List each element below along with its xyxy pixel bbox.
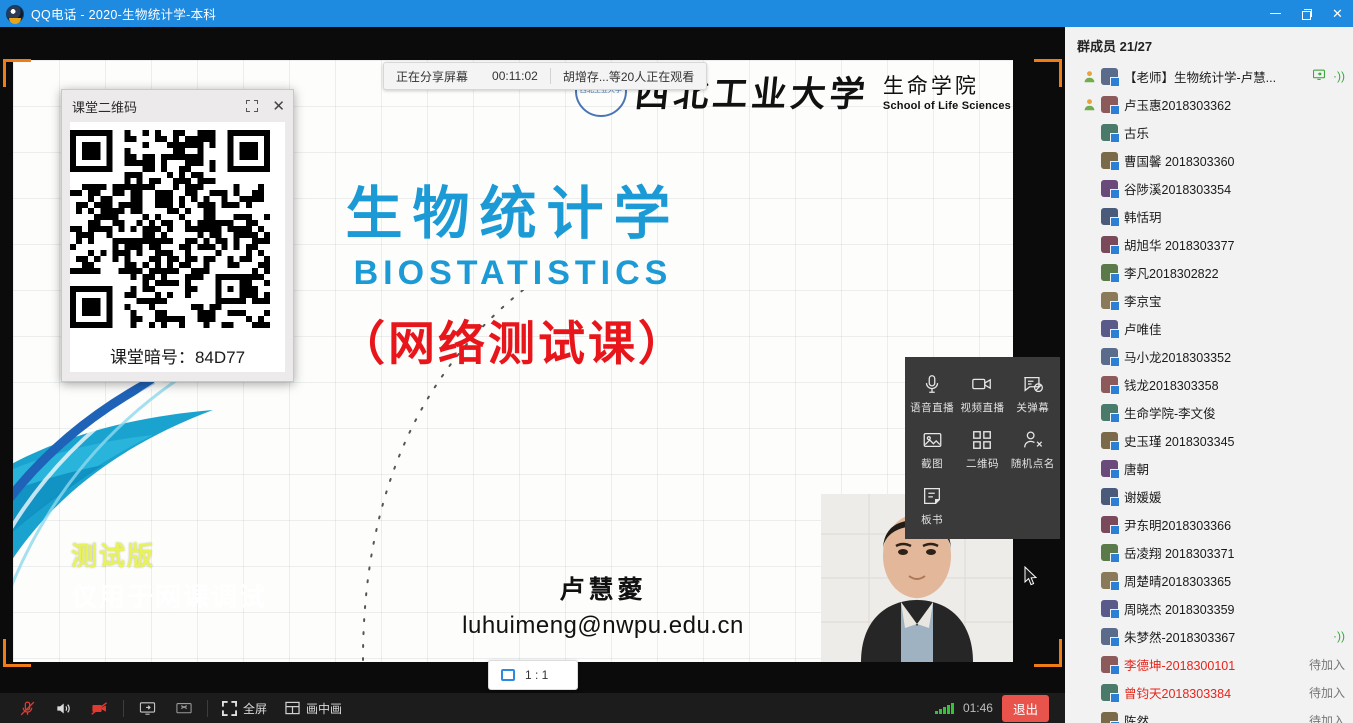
tool-screenshot[interactable]: 截图 xyxy=(907,423,957,479)
share-region-corner-bottom-right xyxy=(1034,639,1062,667)
aspect-ratio-label: 1 : 1 xyxy=(525,668,548,682)
participant-name: 谷陟溪2018303354 xyxy=(1124,179,1231,198)
microphone-muted-icon xyxy=(19,700,36,717)
picture-in-picture-icon xyxy=(285,701,300,715)
participant-row[interactable]: 谢媛媛 xyxy=(1065,482,1353,510)
college-name-en: School of Life Sciences xyxy=(883,100,1011,112)
row-spacer xyxy=(1083,658,1096,671)
avatar xyxy=(1101,488,1118,505)
participant-status: 待加入 xyxy=(1301,712,1345,723)
stop-share-button[interactable] xyxy=(166,693,202,723)
share-region-corner-top-left xyxy=(3,59,31,87)
window-title-bar: QQ电话 - 2020-生物统计学-本科 ✕ xyxy=(0,0,1353,27)
random-pick-icon xyxy=(1021,429,1044,451)
participant-status: 待加入 xyxy=(1301,656,1345,673)
row-spacer xyxy=(1083,630,1096,643)
avatar xyxy=(1101,572,1118,589)
participant-row[interactable]: 史玉瑾 2018303345 xyxy=(1065,426,1353,454)
row-spacer xyxy=(1083,154,1096,167)
minimize-button[interactable] xyxy=(1260,0,1291,27)
avatar xyxy=(1101,684,1118,701)
teaching-tools-panel: 语音直播 视频直播 关弹幕 截图 xyxy=(905,357,1060,539)
participant-name: 周晓杰 2018303359 xyxy=(1124,599,1235,618)
speaking-indicator-icon: ·)) xyxy=(1333,630,1345,642)
tool-video-broadcast[interactable]: 视频直播 xyxy=(957,367,1007,423)
video-camera-icon xyxy=(970,373,994,395)
qrcode-panel-body: 课堂暗号：84D77 xyxy=(70,122,285,372)
classroom-qrcode-panel[interactable]: 课堂二维码 ✕ 课堂暗号：84D77 xyxy=(61,89,294,382)
row-spacer xyxy=(1083,518,1096,531)
participant-row[interactable]: 李京宝 xyxy=(1065,286,1353,314)
aspect-ratio-control[interactable]: 1 : 1 xyxy=(488,660,578,690)
pending-status-label: 待加入 xyxy=(1309,684,1345,701)
share-region-corner-bottom-left xyxy=(3,639,31,667)
signal-strength-icon xyxy=(935,703,954,714)
avatar xyxy=(1101,544,1118,561)
participant-row[interactable]: 卢玉惠2018303362 xyxy=(1065,90,1353,118)
participant-row[interactable]: 胡旭华 2018303377 xyxy=(1065,230,1353,258)
row-spacer xyxy=(1083,686,1096,699)
tool-label: 视频直播 xyxy=(960,400,1004,415)
avatar xyxy=(1101,124,1118,141)
mouse-cursor xyxy=(1024,566,1038,586)
qrcode-image xyxy=(70,130,270,328)
avatar xyxy=(1101,516,1118,533)
participant-row[interactable]: 周楚晴2018303365 xyxy=(1065,566,1353,594)
restore-button[interactable] xyxy=(1291,0,1322,27)
participant-name: 韩恬玥 xyxy=(1124,207,1162,226)
participant-row[interactable]: 朱梦然-2018303367·)) xyxy=(1065,622,1353,650)
row-spacer xyxy=(1083,714,1096,723)
qrcode-icon xyxy=(971,429,993,451)
classroom-code-value: 84D77 xyxy=(195,348,245,367)
tool-label: 随机点名 xyxy=(1011,456,1055,471)
participant-name: 曾钧天2018303384 xyxy=(1124,683,1231,702)
avatar xyxy=(1101,236,1118,253)
participant-name: 钱龙2018303358 xyxy=(1124,375,1219,394)
pending-status-label: 待加入 xyxy=(1309,712,1345,723)
pending-status-label: 待加入 xyxy=(1309,656,1345,673)
row-spacer xyxy=(1083,546,1096,559)
participant-row[interactable]: 唐朝 xyxy=(1065,454,1353,482)
participant-row[interactable]: 李凡2018302822 xyxy=(1065,258,1353,286)
participant-name: 古乐 xyxy=(1124,123,1149,142)
close-button[interactable]: ✕ xyxy=(1322,0,1353,27)
fullscreen-label: 全屏 xyxy=(243,700,267,717)
avatar xyxy=(1101,628,1118,645)
speaker-icon xyxy=(54,700,72,717)
video-stage: 西北工业大学 西北工业大学 生命学院 School of Life Scienc… xyxy=(0,27,1065,693)
participant-row[interactable]: 生命学院-李文俊 xyxy=(1065,398,1353,426)
participant-name: 岳凌翔 2018303371 xyxy=(1124,543,1235,562)
app-logo-icon xyxy=(6,5,24,23)
tool-random-pick[interactable]: 随机点名 xyxy=(1008,423,1058,479)
row-spacer xyxy=(1083,490,1096,503)
qrcode-panel-title: 课堂二维码 xyxy=(72,97,137,116)
exit-button[interactable]: 退出 xyxy=(1002,695,1049,722)
participant-name: 【老师】生物统计学-卢慧... xyxy=(1124,67,1276,86)
row-spacer xyxy=(1083,406,1096,419)
avatar xyxy=(1101,404,1118,421)
camera-muted-icon xyxy=(90,700,109,717)
avatar xyxy=(1101,376,1118,393)
toolbar-divider xyxy=(123,700,124,717)
fullscreen-button[interactable]: 全屏 xyxy=(213,693,276,723)
presenter-email: luhuimeng@nwpu.edu.cn xyxy=(393,612,813,640)
row-spacer xyxy=(1083,238,1096,251)
participant-name: 尹东明2018303366 xyxy=(1124,515,1231,534)
whiteboard-icon xyxy=(921,485,943,507)
participant-name: 周楚晴2018303365 xyxy=(1124,571,1231,590)
participant-row[interactable]: 尹东明2018303366 xyxy=(1065,510,1353,538)
participant-status: ·)) xyxy=(1304,68,1345,84)
qrcode-panel-header: 课堂二维码 ✕ xyxy=(62,90,293,122)
participant-name: 李凡2018302822 xyxy=(1124,263,1219,282)
slide-version-badge: 测试版 仅用于网课调试 xyxy=(71,536,267,614)
sharing-elapsed-time: 00:11:02 xyxy=(480,69,550,83)
row-spacer xyxy=(1083,434,1096,447)
participant-name: 胡旭华 2018303377 xyxy=(1124,235,1235,254)
tool-label: 板书 xyxy=(921,512,943,527)
participant-row[interactable]: 古乐 xyxy=(1065,118,1353,146)
participant-name: 朱梦然-2018303367 xyxy=(1124,627,1235,646)
participant-row[interactable]: 钱龙2018303358 xyxy=(1065,370,1353,398)
avatar xyxy=(1101,320,1118,337)
participant-row[interactable]: 卢唯佳 xyxy=(1065,314,1353,342)
avatar xyxy=(1101,180,1118,197)
window-title: QQ电话 - 2020-生物统计学-本科 xyxy=(31,4,216,23)
pip-label: 画中画 xyxy=(306,700,342,717)
classroom-code-label: 课堂暗号： xyxy=(110,348,195,367)
tool-label: 语音直播 xyxy=(910,400,954,415)
participant-status: 待加入 xyxy=(1301,684,1345,701)
participant-row[interactable]: 曾钧天2018303384待加入 xyxy=(1065,678,1353,706)
avatar xyxy=(1101,68,1118,85)
row-spacer xyxy=(1083,294,1096,307)
tool-label: 关弹幕 xyxy=(1016,400,1049,415)
participant-row[interactable]: 陈然待加入 xyxy=(1065,706,1353,723)
avatar xyxy=(1101,432,1118,449)
participant-name: 卢唯佳 xyxy=(1124,319,1162,338)
danmaku-off-icon xyxy=(1021,373,1044,395)
row-spacer xyxy=(1083,378,1096,391)
participant-name: 马小龙2018303352 xyxy=(1124,347,1231,366)
row-spacer xyxy=(1083,126,1096,139)
row-spacer xyxy=(1083,462,1096,475)
screenshot-icon xyxy=(921,429,944,451)
host-badge-icon xyxy=(1083,70,1096,83)
screen-share-status-bar[interactable]: 正在分享屏幕 00:11:02 胡增存...等20人正在观看 xyxy=(383,62,707,90)
tool-label: 截图 xyxy=(921,456,943,471)
participant-row[interactable]: 韩恬玥 xyxy=(1065,202,1353,230)
participant-name: 李京宝 xyxy=(1124,291,1162,310)
sharing-label: 正在分享屏幕 xyxy=(384,68,480,85)
tool-label: 二维码 xyxy=(966,456,999,471)
row-spacer xyxy=(1083,350,1096,363)
microphone-toggle[interactable] xyxy=(10,693,45,723)
camera-toggle[interactable] xyxy=(81,693,118,723)
participant-row[interactable]: 马小龙2018303352 xyxy=(1065,342,1353,370)
participant-status: ·)) xyxy=(1325,630,1345,642)
fullscreen-icon xyxy=(222,701,237,716)
aspect-ratio-icon xyxy=(501,669,515,681)
share-screen-icon xyxy=(138,700,157,717)
tool-qrcode[interactable]: 二维码 xyxy=(957,423,1007,479)
avatar xyxy=(1101,96,1118,113)
participant-name: 陈然 xyxy=(1124,711,1149,723)
expand-icon[interactable] xyxy=(246,100,258,112)
classroom-code-line: 课堂暗号：84D77 xyxy=(70,333,285,368)
participant-name: 谢媛媛 xyxy=(1124,487,1162,506)
toolbar-divider xyxy=(207,700,208,717)
tool-whiteboard[interactable]: 板书 xyxy=(907,479,957,535)
avatar xyxy=(1101,712,1118,723)
host-badge-icon xyxy=(1083,98,1096,111)
tool-danmaku-off[interactable]: 关弹幕 xyxy=(1008,367,1058,423)
participant-row[interactable]: 谷陟溪2018303354 xyxy=(1065,174,1353,202)
presenter-block: 卢慧薆 luhuimeng@nwpu.edu.cn xyxy=(393,570,813,640)
badge-line-1: 测试版 xyxy=(71,536,267,573)
participants-panel: 群成员 21/27 【老师】生物统计学-卢慧...·))卢玉惠201830336… xyxy=(1065,27,1353,723)
avatar xyxy=(1101,292,1118,309)
stop-share-icon xyxy=(175,700,193,717)
window-controls: ✕ xyxy=(1260,0,1353,27)
microphone-icon xyxy=(921,373,943,395)
call-control-bar: 全屏 画中画 01:46 退出 xyxy=(0,693,1065,723)
avatar xyxy=(1101,600,1118,617)
speaker-toggle[interactable] xyxy=(45,693,81,723)
row-spacer xyxy=(1083,322,1096,335)
participant-name: 唐朝 xyxy=(1124,459,1149,478)
row-spacer xyxy=(1083,602,1096,615)
avatar xyxy=(1101,656,1118,673)
share-screen-button[interactable] xyxy=(129,693,166,723)
badge-line-2: 仅用于网课调试 xyxy=(71,577,267,614)
avatar xyxy=(1101,152,1118,169)
share-region-corner-top-right xyxy=(1034,59,1062,87)
sharing-screen-icon xyxy=(1312,68,1326,84)
participant-row[interactable]: 周晓杰 2018303359 xyxy=(1065,594,1353,622)
participant-name: 曹国馨 2018303360 xyxy=(1124,151,1235,170)
participant-name: 史玉瑾 2018303345 xyxy=(1124,431,1235,450)
tool-voice-broadcast[interactable]: 语音直播 xyxy=(907,367,957,423)
participant-row[interactable]: 【老师】生物统计学-卢慧...·)) xyxy=(1065,62,1353,90)
participant-name: 生命学院-李文俊 xyxy=(1124,403,1216,422)
speaking-indicator-icon: ·)) xyxy=(1333,70,1345,82)
row-spacer xyxy=(1083,574,1096,587)
participant-name: 卢玉惠2018303362 xyxy=(1124,95,1231,114)
call-timer: 01:46 xyxy=(963,701,993,715)
avatar xyxy=(1101,348,1118,365)
participant-name: 李德坤-2018300101 xyxy=(1124,655,1235,674)
row-spacer xyxy=(1083,182,1096,195)
row-spacer xyxy=(1083,266,1096,279)
avatar xyxy=(1101,264,1118,281)
viewers-label: 胡增存...等20人正在观看 xyxy=(551,68,706,85)
participants-header: 群成员 21/27 xyxy=(1065,27,1353,62)
presenter-name: 卢慧薆 xyxy=(393,570,813,606)
picture-in-picture-button[interactable]: 画中画 xyxy=(276,693,351,723)
row-spacer xyxy=(1083,210,1096,223)
participant-row[interactable]: 李德坤-2018300101待加入 xyxy=(1065,650,1353,678)
participant-row[interactable]: 岳凌翔 2018303371 xyxy=(1065,538,1353,566)
avatar xyxy=(1101,208,1118,225)
participants-list: 【老师】生物统计学-卢慧...·))卢玉惠2018303362古乐曹国馨 201… xyxy=(1065,62,1353,723)
participant-row[interactable]: 曹国馨 2018303360 xyxy=(1065,146,1353,174)
avatar xyxy=(1101,460,1118,477)
close-icon[interactable]: ✕ xyxy=(272,99,285,114)
college-name-cn: 生命学院 xyxy=(883,70,1011,100)
